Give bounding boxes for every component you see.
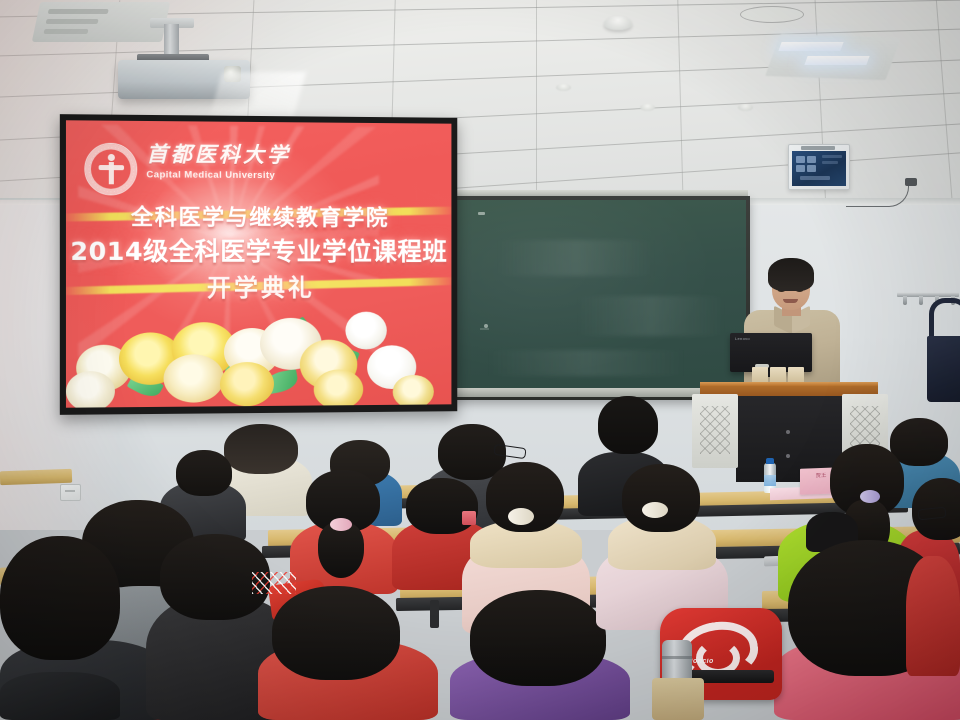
presentation-slide: 首都医科大学 Capital Medical University 全科医学与继…	[66, 120, 451, 407]
person-head	[406, 478, 478, 534]
coat-hook-icon[interactable]	[903, 296, 907, 305]
desk-row	[0, 469, 72, 486]
person-head	[176, 450, 232, 496]
cable-plug	[905, 178, 917, 186]
classroom-photo: 首都医科大学 Capital Medical University 全科医学与继…	[0, 0, 960, 720]
thermos-sleeve	[652, 678, 704, 720]
university-seal-icon	[84, 143, 137, 196]
ceiling-diffuser	[740, 6, 804, 23]
smoke-detector-icon	[604, 16, 632, 30]
hair-scrunchie	[642, 502, 668, 518]
person-head	[272, 586, 400, 680]
sprinkler-icon	[640, 104, 655, 111]
hair-scrunchie	[508, 508, 534, 525]
hair-scrunchie	[330, 518, 352, 531]
smoke-detector-icon	[556, 84, 571, 91]
person-head	[890, 418, 948, 466]
chalkboard	[452, 196, 750, 400]
projector-pole	[164, 24, 179, 58]
chalkboard-surface	[456, 200, 746, 396]
tote-bag	[927, 336, 960, 402]
person-head	[224, 424, 298, 474]
coat-hook-icon[interactable]	[919, 296, 923, 305]
lectern-speaker-left	[692, 394, 738, 468]
sprinkler-icon	[738, 104, 753, 111]
person-head	[0, 536, 120, 660]
panel-cable	[846, 180, 909, 207]
person-head	[470, 590, 606, 686]
person-torso	[0, 672, 120, 720]
presenter-hair	[768, 258, 814, 291]
slide-flower-decoration	[66, 288, 451, 408]
wall-control-panel[interactable]	[788, 144, 850, 190]
hair-scrunchie	[860, 490, 880, 503]
slide-line-2: 2014级全科医学专业学位课程班	[66, 232, 451, 268]
slide-line-1: 全科医学与继续教育学院	[66, 199, 451, 232]
person-head	[598, 396, 658, 454]
panel-top-bar	[801, 146, 835, 150]
projection-screen: 首都医科大学 Capital Medical University 全科医学与继…	[60, 114, 457, 415]
rail-post	[430, 600, 439, 628]
person-head	[622, 464, 700, 532]
university-name-cn: 首都医科大学	[146, 143, 291, 166]
person-torso	[906, 556, 960, 676]
panel-screen	[792, 151, 846, 186]
wall-outlet[interactable]	[60, 484, 81, 501]
light-tube	[804, 56, 869, 65]
university-logo-row: 首都医科大学 Capital Medical University	[84, 143, 291, 196]
monitor-brand-label: Lenovo	[735, 336, 750, 341]
desk-cup	[462, 511, 476, 525]
university-name-en: Capital Medical University	[146, 169, 291, 181]
light-tube	[778, 42, 843, 51]
